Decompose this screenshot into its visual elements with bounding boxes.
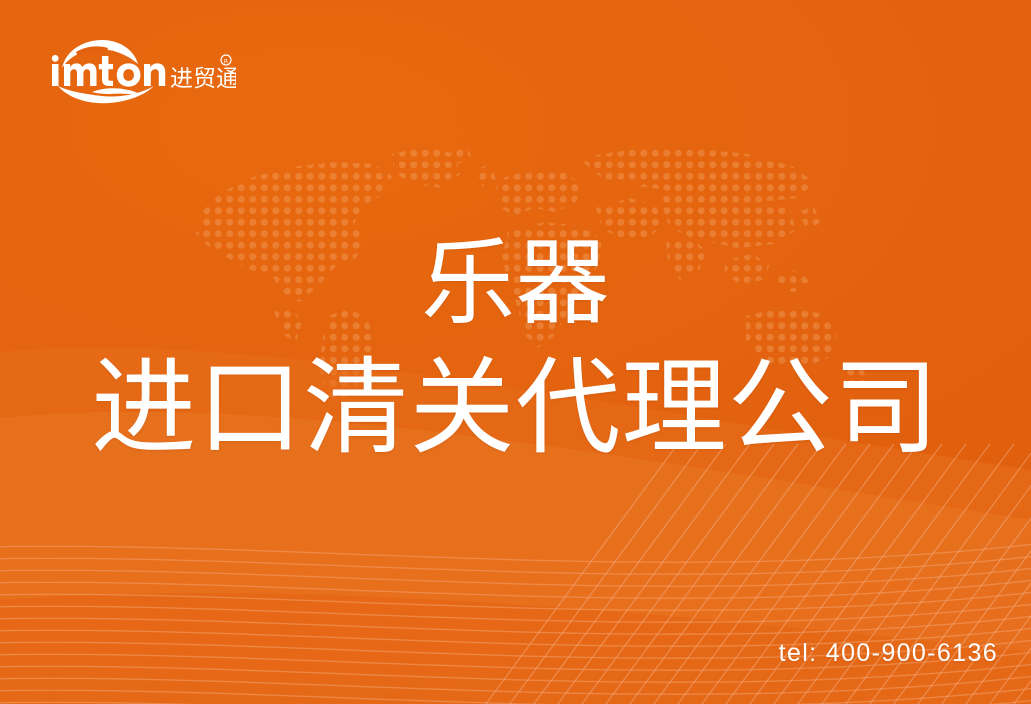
page-title: 乐器 进口清关代理公司 [0, 236, 1031, 461]
logo-swoosh-icon [58, 86, 154, 103]
headline-line-1: 乐器 [0, 236, 1031, 356]
poster-canvas: 进贸通 R 乐器 进口清关代理公司 tel: 400-900-6136 [0, 0, 1031, 704]
registered-trademark-icon: R [221, 55, 231, 66]
headline-line-2: 进口清关代理公司 [0, 356, 1031, 461]
brand-logo[interactable]: 进贸通 R [36, 34, 236, 106]
svg-text:R: R [224, 59, 228, 66]
telephone-text: tel: 400-900-6136 [779, 639, 998, 668]
logo-chinese-name: 进贸通 [170, 66, 236, 92]
